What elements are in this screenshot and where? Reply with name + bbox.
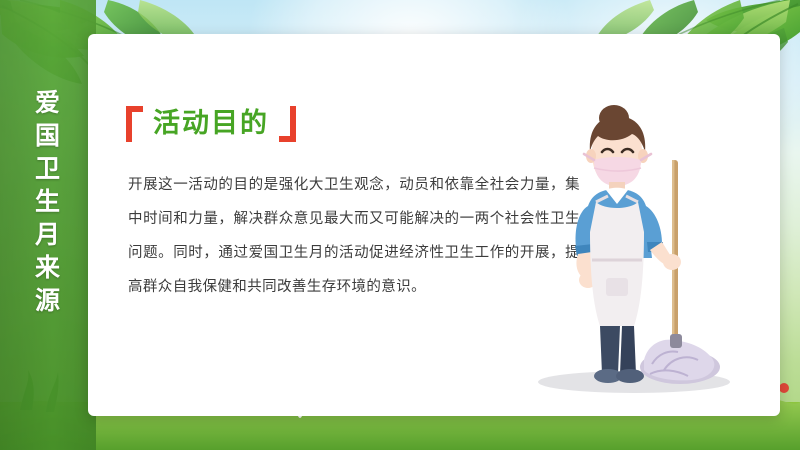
bracket-right-icon	[279, 106, 296, 142]
side-title-char-4: 生	[0, 185, 96, 218]
content-card: 活动目的 开展这一活动的目的是强化大卫生观念，动员和依靠全社会力量，集中时间和力…	[88, 34, 780, 416]
section-heading-text: 活动目的	[143, 106, 279, 142]
side-title-char-3: 卫	[0, 152, 96, 185]
slide-canvas: 爱 国 卫 生 月 来 源 活动目的 开展这一活动的目的是强化大卫生观念，动员和…	[0, 0, 800, 450]
body-paragraph: 开展这一活动的目的是强化大卫生观念，动员和依靠全社会力量，集中时间和力量，解决群…	[128, 168, 580, 304]
side-title-char-1: 爱	[0, 86, 96, 119]
section-heading: 活动目的	[126, 106, 296, 142]
cleaning-woman-with-mop-illustration	[522, 82, 752, 402]
side-title-char-7: 源	[0, 284, 96, 317]
side-title-char-5: 月	[0, 218, 96, 251]
side-title-char-2: 国	[0, 119, 96, 152]
bracket-left-icon	[126, 106, 143, 142]
side-title-vertical-text: 爱 国 卫 生 月 来 源	[0, 86, 96, 317]
side-title-char-6: 来	[0, 251, 96, 284]
